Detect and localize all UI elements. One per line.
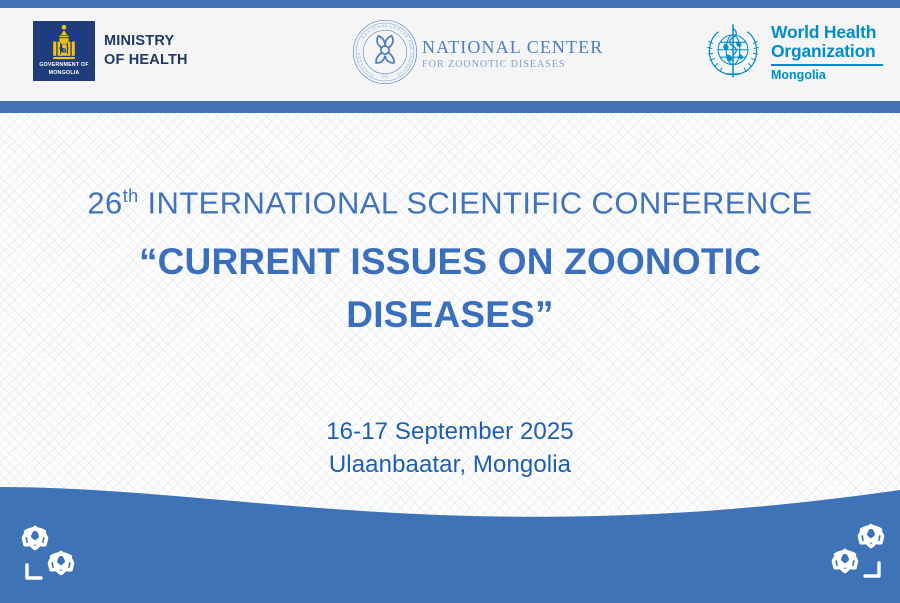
svg-text:N: N <box>377 23 381 29</box>
event-location: Ulaanbaatar, Mongolia <box>0 448 900 481</box>
badge-line-2: MONGOLIA <box>49 70 80 77</box>
biohazard-seal-icon: N A T I O N A L C E N T E R F O R Z O O <box>352 19 418 85</box>
svg-text:R: R <box>409 47 414 51</box>
government-of-mongolia-badge: GOVERNMENT OF MONGOLIA <box>33 21 95 81</box>
svg-text:S: S <box>356 53 361 56</box>
ministry-name-line-2: OF HEALTH <box>104 51 188 70</box>
who-wordmark: World Health Organization Mongolia <box>771 20 883 82</box>
top-accent-bar <box>0 0 900 8</box>
svg-text:C: C <box>396 72 401 78</box>
ministry-name: MINISTRY OF HEALTH <box>104 32 188 70</box>
theme-line-1: “CURRENT ISSUES ON ZOONOTIC <box>0 235 900 288</box>
who-name-line-2: Organization <box>771 42 883 61</box>
mongolian-knot-ornament-right <box>812 519 892 587</box>
svg-text:A: A <box>381 23 384 28</box>
who-name-line-1: World Health <box>771 23 883 42</box>
badge-line-1: GOVERNMENT OF <box>39 62 88 69</box>
conference-title-slide: GOVERNMENT OF MONGOLIA MINISTRY OF HEALT… <box>0 0 900 603</box>
knot-ornament-icon <box>812 519 892 587</box>
who-emblem-icon <box>702 20 764 82</box>
svg-text:L: L <box>385 23 388 28</box>
conference-heading: 26th INTERNATIONAL SCIENTIFIC CONFERENCE <box>0 177 900 222</box>
header-divider-bar <box>0 101 900 113</box>
title-block: 26th INTERNATIONAL SCIENTIFIC CONFERENCE… <box>0 177 900 341</box>
slide-body: 26th INTERNATIONAL SCIENTIFIC CONFERENCE… <box>0 113 900 603</box>
who-divider-rule <box>771 64 883 66</box>
soyombo-icon <box>51 24 77 61</box>
who-mongolia-logo: World Health Organization Mongolia <box>702 20 883 82</box>
who-country-label: Mongolia <box>771 68 883 82</box>
national-center-subtitle: FOR ZOONOTIC DISEASES <box>422 58 603 71</box>
seal-year: 1931 <box>381 75 389 79</box>
mongolian-knot-ornament-left <box>14 521 94 589</box>
svg-text:E: E <box>356 55 362 59</box>
ministry-of-health-logo: GOVERNMENT OF MONGOLIA MINISTRY OF HEALT… <box>33 21 188 81</box>
conference-number: 26 <box>87 185 122 220</box>
event-meta-block: 16-17 September 2025 Ulaanbaatar, Mongol… <box>0 415 900 481</box>
event-dates: 16-17 September 2025 <box>0 415 900 448</box>
national-center-wordmark: NATIONAL CENTER FOR ZOONOTIC DISEASES <box>422 33 603 71</box>
ministry-name-line-1: MINISTRY <box>104 32 188 51</box>
national-center-title: NATIONAL CENTER <box>422 37 603 57</box>
knot-ornament-icon <box>14 521 94 589</box>
conference-ordinal: th <box>123 186 139 206</box>
theme-line-2: DISEASES” <box>0 288 900 341</box>
svg-text:S: S <box>357 59 362 63</box>
national-center-zoonotic-diseases-logo: N A T I O N A L C E N T E R F O R Z O O <box>352 19 603 85</box>
conference-title-text: INTERNATIONAL SCIENTIFIC CONFERENCE <box>139 185 813 220</box>
